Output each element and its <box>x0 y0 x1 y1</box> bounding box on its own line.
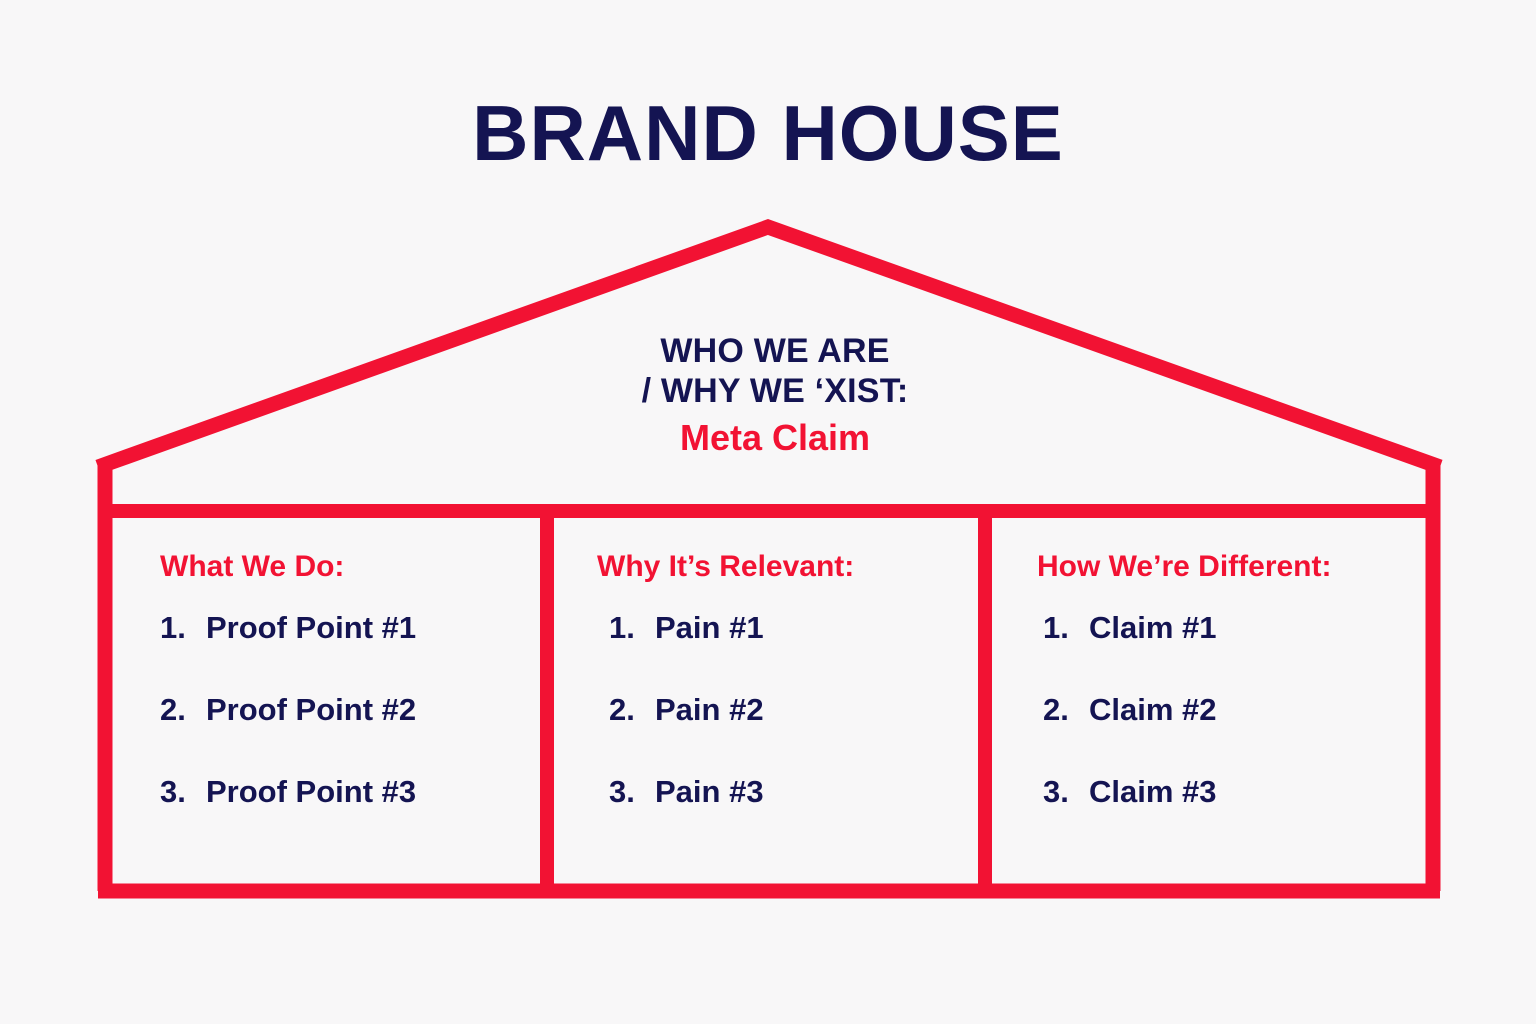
list-item: 2. Claim #2 <box>1043 692 1440 728</box>
list-item-number: 1. <box>160 610 206 646</box>
list-item-number: 3. <box>1043 774 1089 810</box>
list-item-number: 2. <box>609 692 655 728</box>
column-header: Why It’s Relevant: <box>597 550 985 584</box>
column-list: 1. Proof Point #1 2. Proof Point #2 3. P… <box>160 610 547 810</box>
roof-line-1: WHO WE ARE <box>500 331 1050 371</box>
list-item-number: 3. <box>609 774 655 810</box>
column-list: 1. Claim #1 2. Claim #2 3. Claim #3 <box>1037 610 1440 810</box>
list-item-label: Pain #1 <box>655 610 764 646</box>
column-what-we-do: What We Do: 1. Proof Point #1 2. Proof P… <box>98 518 547 885</box>
column-how-were-different: How We’re Different: 1. Claim #1 2. Clai… <box>985 518 1440 885</box>
list-item-label: Claim #2 <box>1089 692 1217 728</box>
list-item: 3. Proof Point #3 <box>160 774 547 810</box>
brand-house-diagram: BRAND HOUSE WHO WE ARE / WHY WE ‘XIST: M… <box>0 0 1536 1024</box>
list-item-label: Claim #1 <box>1089 610 1217 646</box>
list-item: 2. Pain #2 <box>609 692 985 728</box>
list-item-number: 2. <box>1043 692 1089 728</box>
meta-claim-text: Meta Claim <box>500 417 1050 459</box>
list-item-number: 1. <box>1043 610 1089 646</box>
list-item-number: 3. <box>160 774 206 810</box>
column-list: 1. Pain #1 2. Pain #2 3. Pain #3 <box>597 610 985 810</box>
column-header: What We Do: <box>160 550 547 584</box>
list-item: 1. Proof Point #1 <box>160 610 547 646</box>
roof-line-2: / WHY WE ‘XIST: <box>500 371 1050 411</box>
list-item: 3. Claim #3 <box>1043 774 1440 810</box>
list-item-label: Pain #2 <box>655 692 764 728</box>
list-item: 2. Proof Point #2 <box>160 692 547 728</box>
list-item-number: 1. <box>609 610 655 646</box>
list-item-label: Proof Point #3 <box>206 774 416 810</box>
page-title: BRAND HOUSE <box>0 94 1536 172</box>
list-item: 1. Claim #1 <box>1043 610 1440 646</box>
columns-container: What We Do: 1. Proof Point #1 2. Proof P… <box>98 518 1440 885</box>
list-item-number: 2. <box>160 692 206 728</box>
column-header: How We’re Different: <box>1037 550 1440 584</box>
list-item-label: Proof Point #2 <box>206 692 416 728</box>
list-item: 3. Pain #3 <box>609 774 985 810</box>
roof-text-block: WHO WE ARE / WHY WE ‘XIST: Meta Claim <box>500 331 1050 460</box>
column-why-its-relevant: Why It’s Relevant: 1. Pain #1 2. Pain #2… <box>547 518 985 885</box>
list-item-label: Claim #3 <box>1089 774 1217 810</box>
list-item: 1. Pain #1 <box>609 610 985 646</box>
list-item-label: Proof Point #1 <box>206 610 416 646</box>
list-item-label: Pain #3 <box>655 774 764 810</box>
